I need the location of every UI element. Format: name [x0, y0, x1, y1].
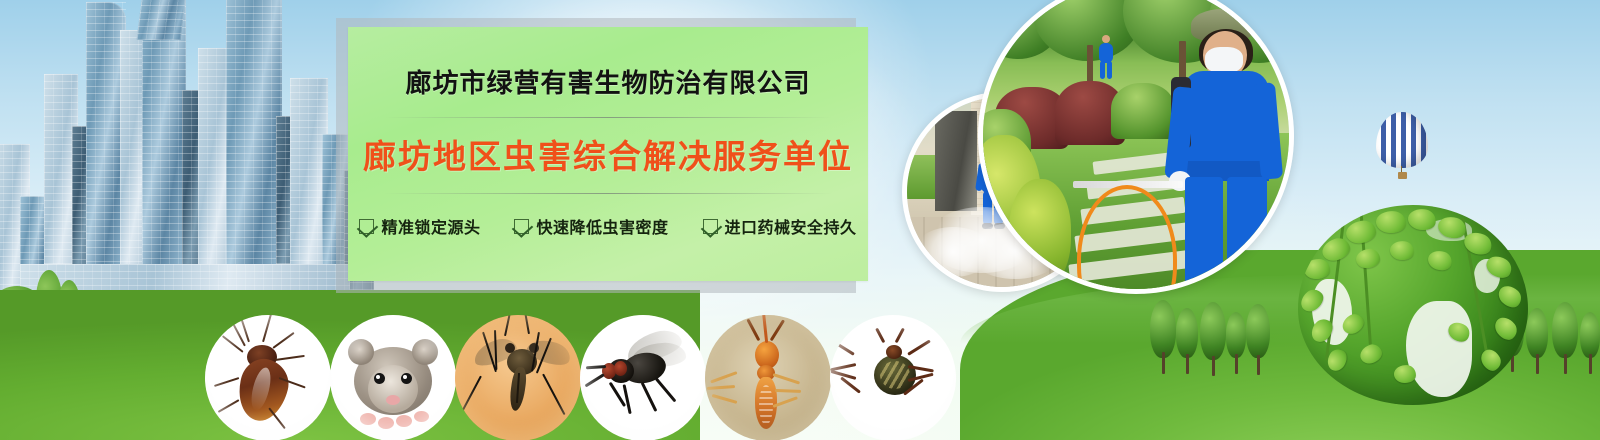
cockroach-photo[interactable]	[205, 315, 331, 440]
mouse-photo[interactable]	[330, 315, 456, 440]
tick-photo[interactable]	[830, 315, 956, 440]
mosquito-photo[interactable]	[455, 315, 581, 440]
pest-gallery	[0, 0, 1600, 440]
pest-control-banner: 廊坊市绿营有害生物防治有限公司 廊坊地区虫害综合解决服务单位 精准锁定源头 快速…	[0, 0, 1600, 440]
housefly-photo[interactable]	[580, 315, 706, 440]
termite-photo[interactable]	[705, 315, 831, 440]
